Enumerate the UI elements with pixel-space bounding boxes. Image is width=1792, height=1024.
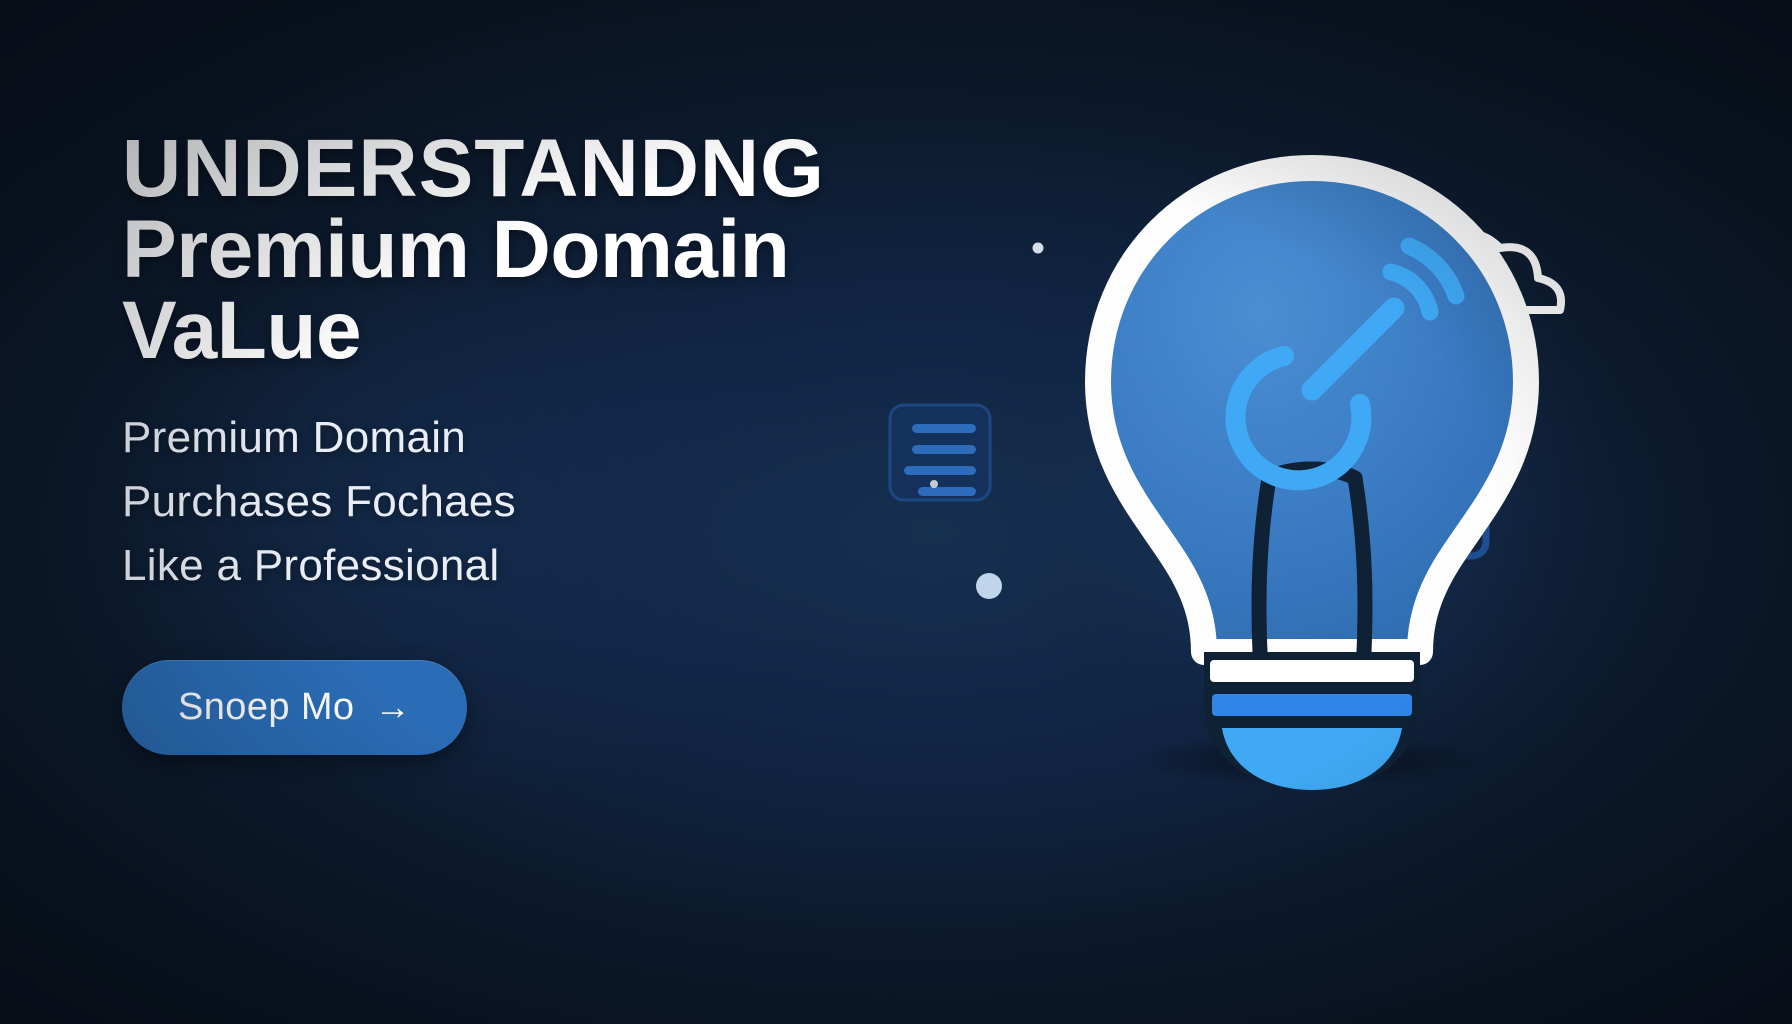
subtitle-line-2: Purchases Fochaes (122, 470, 1002, 534)
promo-banner: UNDERSTANDNG Premium Domain VaLue Premiu… (0, 0, 1792, 1024)
page-title: UNDERSTANDNG Premium Domain VaLue (122, 128, 1002, 372)
base-stripe-blue (1212, 694, 1412, 716)
base-stripe-white (1210, 660, 1414, 682)
shop-more-button[interactable]: Snoep Mo → (122, 660, 467, 755)
subtitle: Premium Domain Purchases Fochaes Like a … (122, 406, 1002, 599)
dot-small-white (1033, 243, 1044, 254)
banner-content: UNDERSTANDNG Premium Domain VaLue Premiu… (122, 128, 1002, 755)
subtitle-line-1: Premium Domain (122, 406, 1002, 470)
subtitle-line-3: Like a Professional (122, 534, 1002, 598)
headline-line-3: VaLue (122, 290, 1002, 371)
headline-line-2: Premium Domain (122, 209, 1002, 290)
headline-line-1: UNDERSTANDNG (122, 128, 1002, 209)
cta-label: Snoep Mo (178, 686, 354, 729)
arrow-right-icon: → (374, 689, 410, 725)
